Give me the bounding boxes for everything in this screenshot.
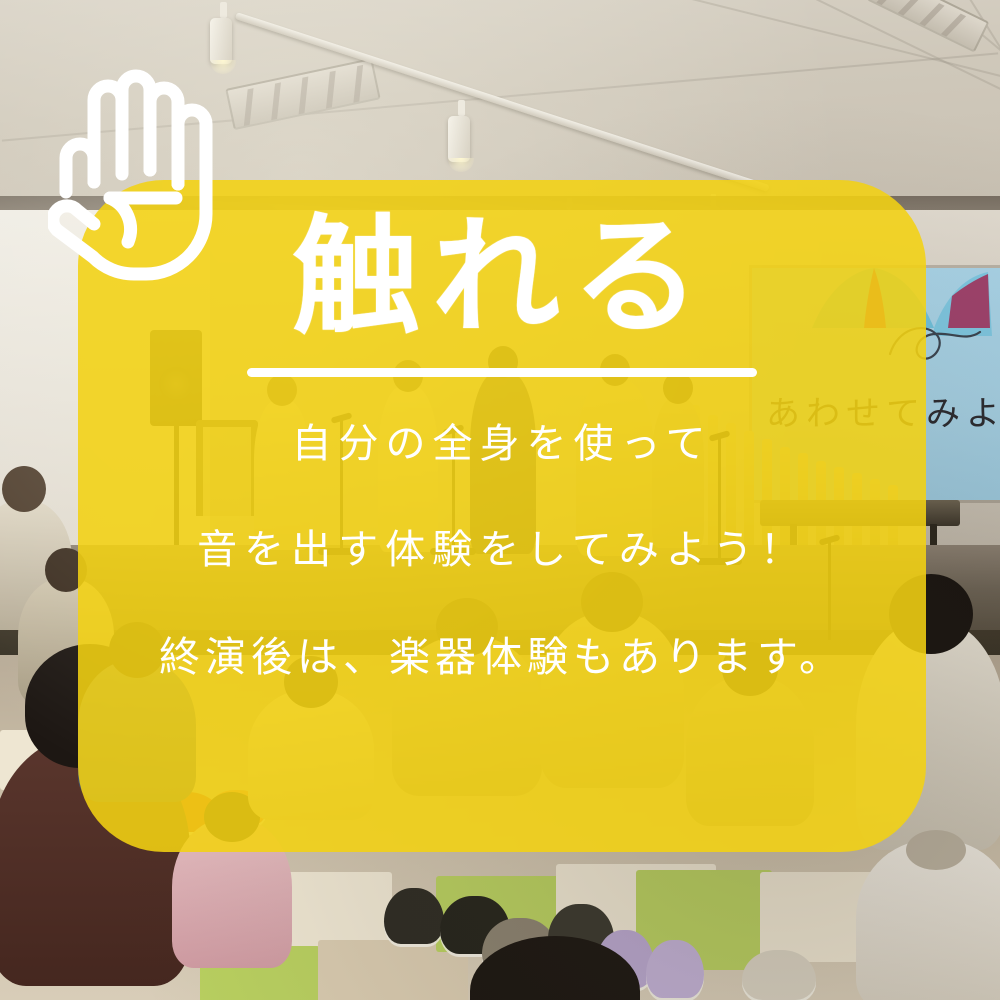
body-lines: 自分の全身を使って 音を出す体験をしてみよう！ 終演後は、楽器体験もあります。 xyxy=(78,411,926,683)
body-line-3: 終演後は、楽器体験もあります。 xyxy=(159,623,845,683)
open-hand-icon xyxy=(48,62,213,290)
title-divider xyxy=(247,368,757,377)
body-line-1: 自分の全身を使って xyxy=(292,411,713,469)
body-line-2: 音を出す体験をしてみよう！ xyxy=(197,517,807,575)
poster-canvas: あわせてみよ xyxy=(0,0,1000,1000)
page-title: 触れる xyxy=(292,214,712,342)
